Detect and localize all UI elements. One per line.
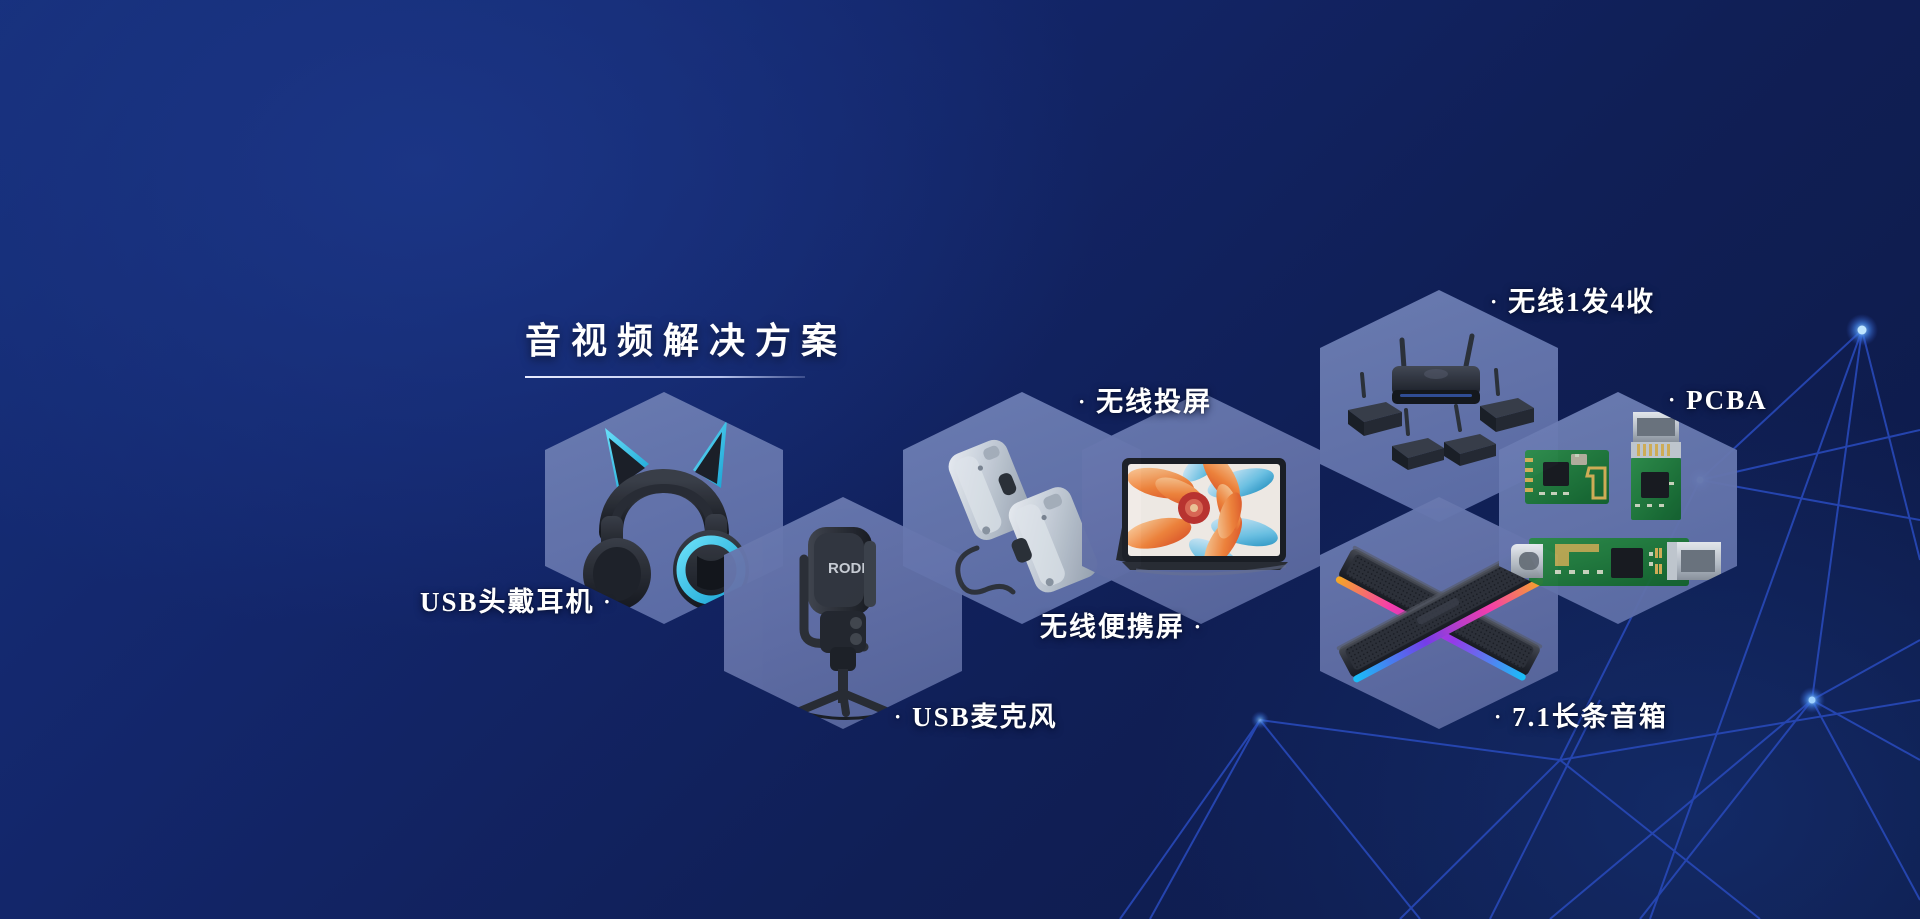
portable-monitor-icon (1082, 392, 1320, 624)
label-wireless-1t4r: · 无线1发4收 (1490, 280, 1655, 319)
label-wireless-casting-text: 无线投屏 (1096, 387, 1212, 417)
hex-tile-portable-screen[interactable] (1082, 392, 1320, 624)
hexagon-grid: RODE (0, 0, 1920, 919)
label-pcba-text: PCBA (1686, 385, 1768, 415)
label-usb-microphone-text: USB麦克风 (912, 702, 1058, 732)
bullet-dot: · (1078, 389, 1087, 414)
label-usb-headset-text: USB头戴耳机 (420, 587, 595, 617)
bullet-dot: · (1490, 289, 1499, 314)
bullet-dot: · (1194, 614, 1203, 639)
label-portable-screen: 无线便携屏 · (1040, 605, 1203, 644)
label-pcba: · PCBA (1668, 385, 1768, 416)
label-usb-headset: USB头戴耳机 · (420, 580, 613, 619)
bullet-dot: · (603, 589, 612, 614)
label-usb-microphone: · USB麦克风 (894, 695, 1058, 734)
label-portable-screen-text: 无线便携屏 (1040, 612, 1185, 642)
label-wireless-casting: · 无线投屏 (1078, 380, 1212, 419)
label-soundbar-text: 7.1长条音箱 (1512, 702, 1668, 732)
hero-banner: 音视频解决方案 (0, 0, 1920, 919)
label-wireless-1t4r-text: 无线1发4收 (1508, 287, 1655, 317)
bullet-dot: · (894, 704, 903, 729)
bullet-dot: · (1668, 387, 1677, 412)
label-soundbar: · 7.1长条音箱 (1494, 695, 1668, 734)
bullet-dot: · (1494, 704, 1503, 729)
